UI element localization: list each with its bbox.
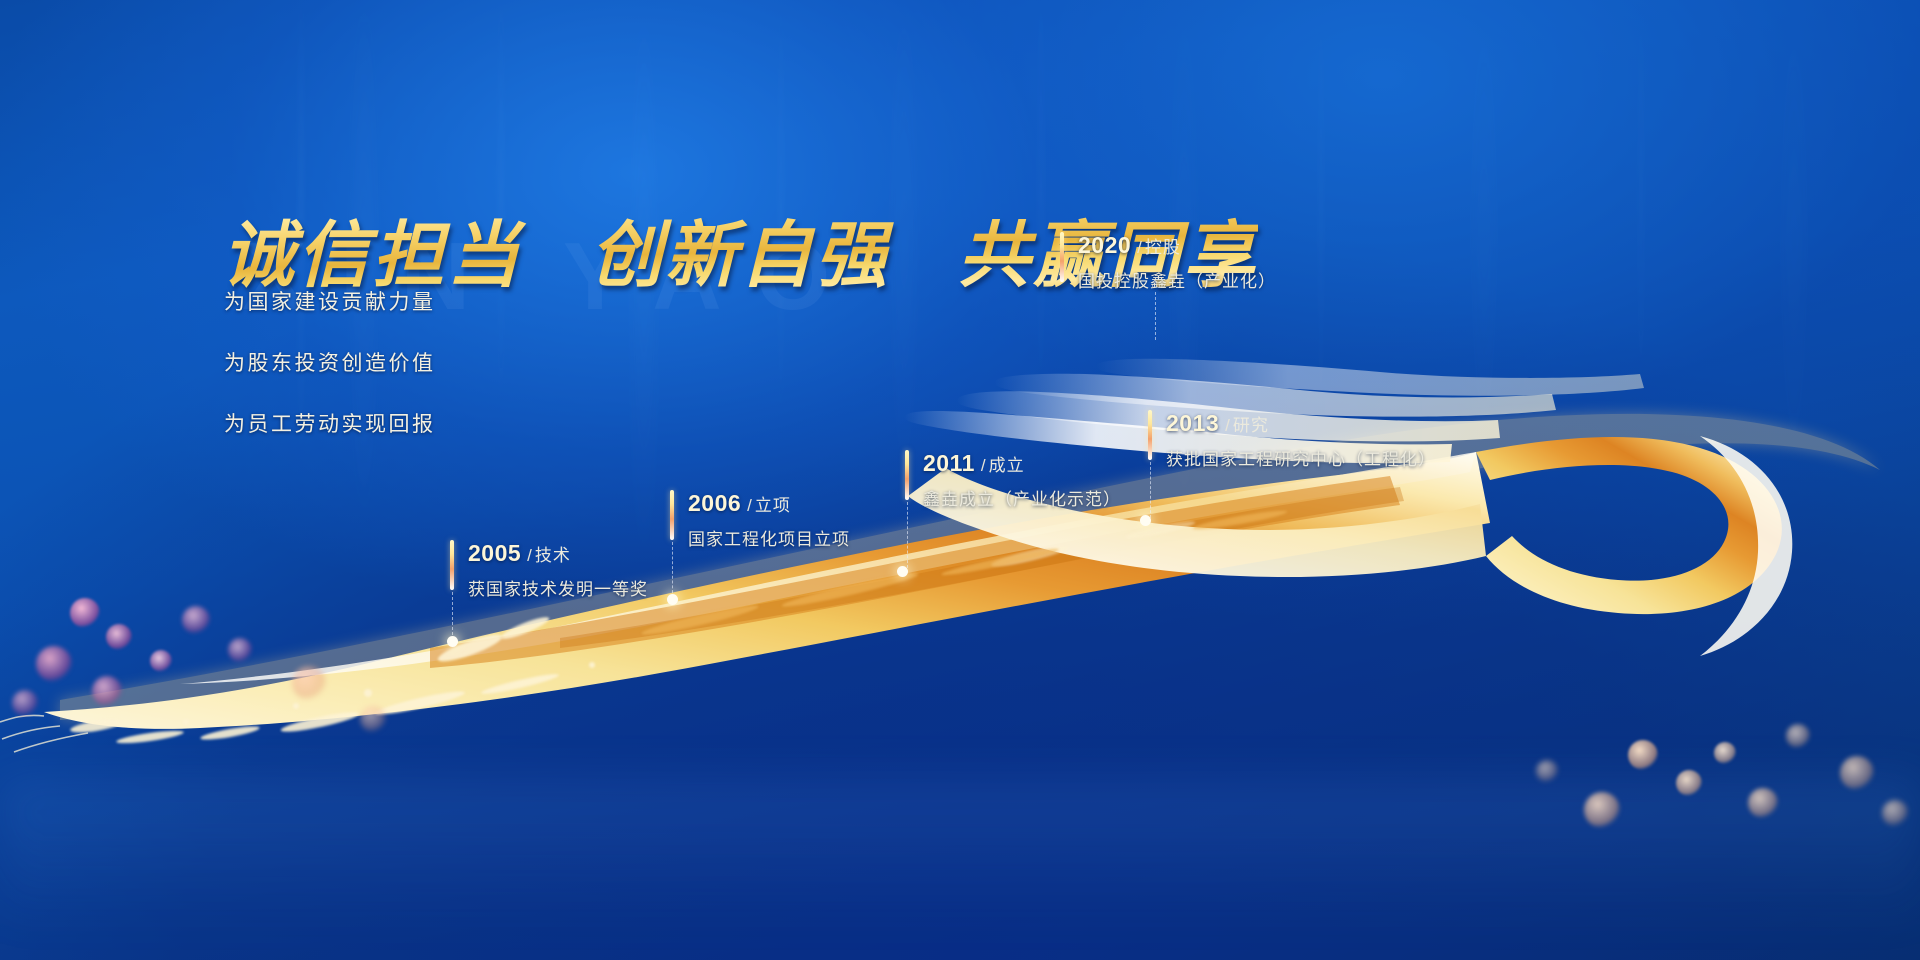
timeline-milestone-2005[interactable]: 2005/技术 获国家技术发明一等奖 [450, 540, 648, 600]
milestone-year: 2020 [1078, 232, 1131, 258]
milestone-accent-bar [1060, 232, 1064, 282]
milestone-accent-bar [670, 490, 674, 540]
milestone-dot-2011 [897, 566, 908, 577]
milestone-text: 2005/技术 获国家技术发明一等奖 [468, 540, 648, 600]
milestone-leader-line-2013 [1150, 462, 1151, 518]
milestone-dot-2006 [667, 594, 678, 605]
bokeh-circle [292, 666, 326, 700]
milestone-accent-bar [905, 450, 909, 500]
bokeh-circle [92, 676, 122, 706]
bokeh-circle [70, 598, 100, 628]
milestone-text: 2013/研究 获批国家工程研究中心（工程化） [1166, 410, 1436, 470]
bokeh-circle [1714, 742, 1736, 764]
bokeh-circle [12, 690, 38, 716]
milestone-dot-2013 [1140, 515, 1151, 526]
bokeh-circle [1628, 740, 1658, 770]
milestone-heading: 2005/技术 [468, 540, 648, 567]
subtitle-list: 为国家建设贡献力量 为股东投资创造价值 为员工劳动实现回报 [224, 286, 436, 469]
milestone-tag: 成立 [989, 456, 1025, 475]
milestone-leader-line-2005 [452, 592, 453, 640]
milestone-dot-2005 [447, 636, 458, 647]
timeline-milestone-2006[interactable]: 2006/立项 国家工程化项目立项 [670, 490, 850, 550]
milestone-description: 国家工程化项目立项 [688, 525, 850, 550]
timeline-milestone-2020[interactable]: 2020/控股 国投控股鑫垚（产业化） [1060, 232, 1276, 292]
milestone-text: 2006/立项 国家工程化项目立项 [688, 490, 850, 550]
timeline-milestone-2013[interactable]: 2013/研究 获批国家工程研究中心（工程化） [1148, 410, 1436, 470]
bokeh-circle [1536, 760, 1558, 782]
timeline-milestone-2011[interactable]: 2011/成立 鑫垚成立（产业化示范） [905, 450, 1121, 510]
bokeh-circle [150, 650, 172, 672]
milestone-separator: / [981, 456, 986, 475]
milestone-text: 2020/控股 国投控股鑫垚（产业化） [1078, 232, 1276, 292]
milestone-year: 2011 [923, 450, 975, 476]
bokeh-circle [228, 638, 252, 662]
bokeh-circle [182, 606, 210, 634]
milestone-separator: / [747, 496, 752, 515]
milestone-description: 鑫垚成立（产业化示范） [923, 485, 1121, 510]
milestone-description: 获批国家工程研究中心（工程化） [1166, 445, 1436, 470]
headline-part-2: 创新自强 [590, 216, 890, 296]
milestone-heading: 2011/成立 [923, 450, 1121, 477]
milestone-accent-bar [1148, 410, 1152, 460]
bokeh-circle [36, 646, 72, 682]
banner-canvas: XIN YAO 诚信担当 创新自强 共赢同享 为国家建设贡献力量 为股东投资创造… [0, 0, 1920, 960]
milestone-tag: 控股 [1145, 238, 1181, 257]
milestone-accent-bar [450, 540, 454, 590]
milestone-separator: / [1137, 238, 1142, 257]
headline-part-1: 诚信担当 [222, 216, 522, 296]
milestone-description: 获国家技术发明一等奖 [468, 575, 648, 600]
bokeh-circle [1786, 724, 1810, 748]
milestone-year: 2006 [688, 490, 741, 516]
milestone-heading: 2013/研究 [1166, 410, 1436, 437]
milestone-leader-line-2006 [672, 542, 673, 598]
bokeh-circle [360, 706, 386, 732]
milestone-year: 2005 [468, 540, 521, 566]
milestone-heading: 2006/立项 [688, 490, 850, 517]
subtitle-line: 为股东投资创造价值 [224, 347, 436, 377]
milestone-leader-line-2011 [907, 502, 908, 568]
subtitle-line: 为员工劳动实现回报 [224, 408, 436, 438]
milestone-year: 2013 [1166, 410, 1219, 436]
bokeh-circle [106, 624, 132, 650]
horizon-glow [0, 780, 1920, 930]
milestone-tag: 技术 [535, 546, 571, 565]
milestone-heading: 2020/控股 [1078, 232, 1276, 259]
milestone-description: 国投控股鑫垚（产业化） [1078, 267, 1276, 292]
milestone-text: 2011/成立 鑫垚成立（产业化示范） [923, 450, 1121, 510]
milestone-separator: / [527, 546, 532, 565]
milestone-tag: 研究 [1233, 416, 1269, 435]
milestone-leader-line-2020 [1155, 292, 1156, 340]
milestone-tag: 立项 [755, 496, 791, 515]
milestone-separator: / [1225, 416, 1230, 435]
subtitle-line: 为国家建设贡献力量 [224, 286, 436, 316]
